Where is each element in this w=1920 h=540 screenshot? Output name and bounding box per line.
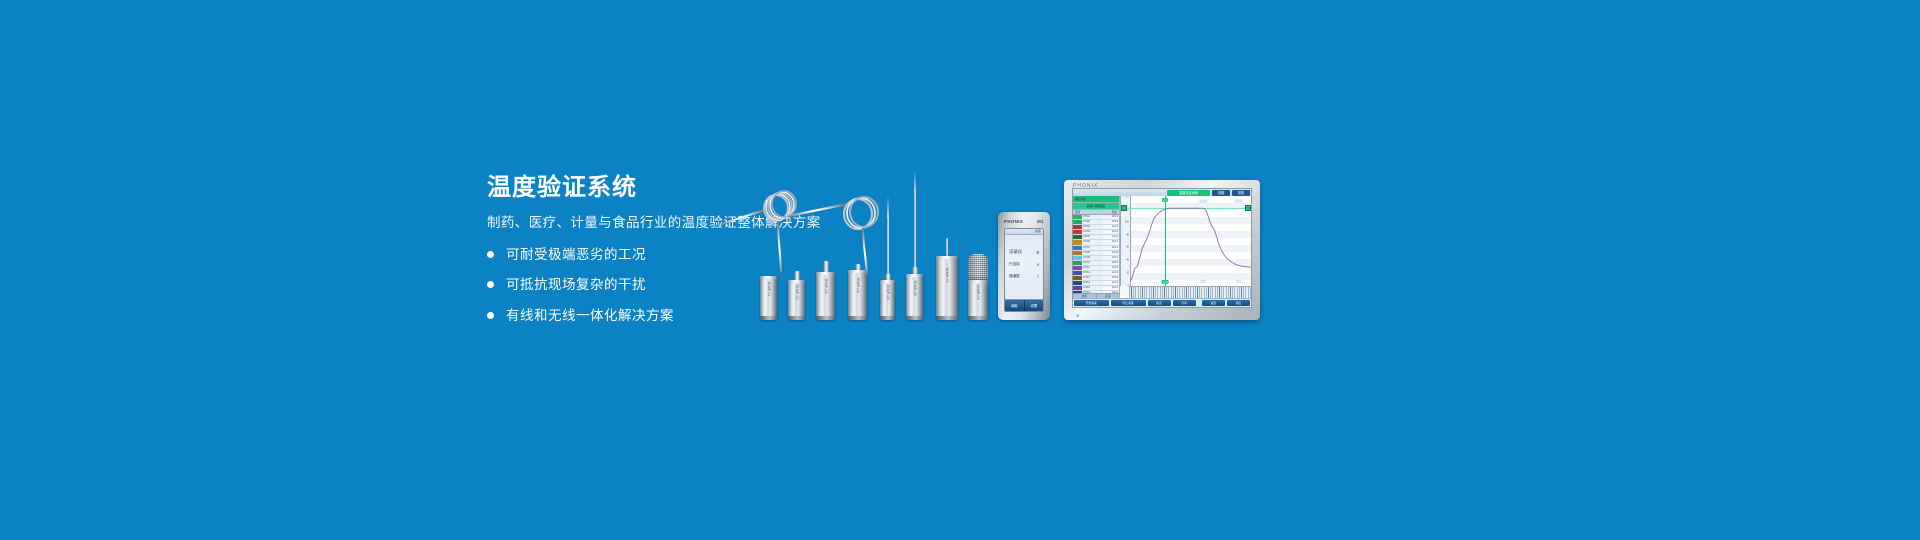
feature-label: 可耐受极端恶劣的工况 (506, 248, 646, 262)
hero-banner: 温度验证系统 制药、医疗、计量与食品行业的温度验证整体解决方案 可耐受极端恶劣的… (0, 0, 1920, 540)
bullet-dot-icon (487, 251, 494, 258)
logger-tall: TEMP-07 (936, 256, 958, 320)
handheld-stat-label: 记录仪 (1009, 249, 1022, 255)
software-window[interactable]: 温度验证系统 视图 帮助 通道列表 曲线与参数设置 通道 温度 (1072, 188, 1252, 308)
probe-neck (912, 267, 917, 274)
handheld-stat-value: 8 (1037, 250, 1039, 255)
probe-neck (885, 274, 890, 280)
channel-value: 121.7 (1103, 240, 1119, 244)
pin-probe (946, 238, 948, 256)
handheld-brand-row: PHONIX M1 (1004, 219, 1044, 224)
logger-stub-b: TEMP-03 (816, 272, 835, 320)
logger-label: TEMP-03 (824, 279, 828, 295)
feature-label: 有线和无线一体化解决方案 (506, 309, 674, 323)
product-cluster: TEMP-01 TEMP-02 TEMP-03 TEMP-04 TEMP-05 (740, 120, 1260, 320)
sintered-cap-icon (968, 254, 988, 280)
chart-temperature-curve (1130, 196, 1251, 286)
channel-color-swatch (1073, 225, 1082, 229)
y-axis-tick: 20 (1126, 272, 1129, 275)
channel-color-swatch (1073, 261, 1082, 265)
y-axis-tick: 40 (1126, 259, 1129, 262)
channel-name: CH 10 (1082, 261, 1103, 265)
handheld-model: M1 (1037, 219, 1044, 224)
exit-button[interactable]: 退出 (1227, 300, 1250, 306)
channel-color-swatch (1073, 246, 1082, 250)
report-button[interactable]: 报表 (1148, 300, 1171, 306)
start-acquisition-button[interactable]: 开始采集 (1074, 300, 1109, 306)
channel-name: CH 02 (1082, 220, 1103, 224)
probe-neck (855, 264, 860, 270)
software-bottom-toolbar: 开始采集 停止采集 报表 打印 设置 退出 (1073, 298, 1251, 307)
toolbar-spacer (1197, 299, 1201, 307)
channel-name: CH 03 (1082, 225, 1103, 229)
sidebar-title: 通道列表 (1075, 197, 1086, 201)
channel-value: 121.2 (1103, 286, 1119, 290)
channel-value: 121.3 (1103, 225, 1119, 229)
handheld-softkeys: 读取 设置 (1005, 299, 1043, 311)
software-main: 通道列表 曲线与参数设置 通道 温度 CH 01121.4CH 02121.5C… (1073, 196, 1251, 298)
logger-label: TEMP-07 (945, 267, 949, 283)
channel-value: 121.3 (1103, 271, 1119, 275)
channel-value: 121.5 (1103, 220, 1119, 224)
tab-temperature-validation[interactable]: 温度验证系统 (1167, 190, 1210, 196)
bullet-dot-icon (487, 281, 494, 288)
sidebar-subtitle: 曲线与参数设置 (1073, 203, 1119, 210)
coil-left (764, 191, 796, 221)
channel-value: 121.5 (1103, 276, 1119, 280)
chart-panel[interactable]: 020406080100120140 A点 起点 保温段 降温段 (1120, 196, 1251, 298)
channel-value: 121.2 (1103, 235, 1119, 239)
channel-name: CH 04 (1082, 230, 1103, 234)
logger-coiled-large: TEMP-04 (848, 270, 867, 320)
column-header-temp: 温度 (1112, 210, 1117, 214)
channel-name: CH 13 (1082, 276, 1103, 280)
handheld-stat-value: 7 (1037, 275, 1039, 279)
handheld-titlebar-label: 读取 (1035, 229, 1041, 234)
tab-view[interactable]: 视图 (1212, 190, 1230, 196)
handheld-stat-row: 已连接 8 (1009, 262, 1039, 267)
print-button[interactable]: 打印 (1173, 300, 1196, 306)
channel-color-swatch (1073, 215, 1082, 219)
handheld-stat-row: 通道数 7 (1009, 274, 1039, 279)
channel-row-list[interactable]: CH 01121.4CH 02121.5CH 03121.3CH 04121.6… (1073, 215, 1119, 293)
handheld-stat-row: 记录仪 8 (1009, 249, 1039, 255)
channel-value: 121.9 (1103, 266, 1119, 270)
channel-color-swatch (1073, 220, 1082, 224)
logger-label: TEMP-05 (886, 285, 890, 301)
channel-color-swatch (1073, 251, 1082, 255)
handheld-stat-value: 8 (1037, 263, 1039, 267)
channel-sidebar[interactable]: 通道列表 曲线与参数设置 通道 温度 CH 01121.4CH 02121.5C… (1073, 196, 1120, 298)
channel-name: CH 09 (1082, 256, 1103, 260)
needle-tip-icon (914, 171, 916, 193)
needle-probe (887, 218, 889, 274)
probe-neck (794, 271, 799, 280)
software-toolbar: 温度验证系统 视图 帮助 (1073, 189, 1251, 196)
y-axis-tick: 60 (1126, 246, 1129, 249)
power-led-icon (1076, 314, 1079, 317)
logger-needle-long: TEMP-06 (906, 274, 923, 320)
bullet-dot-icon (487, 312, 494, 319)
channel-color-swatch (1073, 256, 1082, 260)
logger-stub-a: TEMP-02 (788, 280, 805, 320)
monitor-display: PHONIX 温度验证系统 视图 帮助 通道列表 曲线与参数设置 (1064, 180, 1260, 320)
channel-name: CH 07 (1082, 246, 1103, 250)
channel-color-swatch (1073, 286, 1082, 290)
logger-label: TEMP-01 (767, 282, 771, 298)
tab-help[interactable]: 帮助 (1232, 190, 1250, 196)
y-axis-tick: 80 (1126, 233, 1129, 236)
channel-name: CH 08 (1082, 251, 1103, 255)
channel-name: CH 01 (1082, 215, 1103, 219)
logger-mesh-cap: TEMP-08 (968, 280, 988, 320)
logger-coiled-small: TEMP-01 (760, 276, 777, 320)
handheld-stat-label: 通道数 (1009, 274, 1020, 279)
logger-label: TEMP-06 (913, 280, 917, 296)
channel-value: 121.4 (1103, 281, 1119, 285)
sidebar-title-row: 通道列表 (1073, 196, 1119, 203)
handheld-body: 记录仪 8 已连接 8 通道数 7 (1005, 235, 1043, 299)
channel-color-swatch (1073, 235, 1082, 239)
y-axis-tick: 0 (1128, 285, 1129, 288)
column-header-channel: 通道 (1075, 210, 1080, 214)
channel-name: CH 15 (1082, 286, 1103, 290)
handheld-brand: PHONIX (1004, 219, 1023, 224)
handheld-reader[interactable]: PHONIX M1 读取 记录仪 8 已连接 8 通 (998, 212, 1050, 320)
channel-value: 121.0 (1103, 256, 1119, 260)
channel-color-swatch (1073, 266, 1082, 270)
channel-value: 120.9 (1103, 261, 1119, 265)
handheld-key-setup[interactable]: 设置 (1025, 300, 1044, 311)
y-axis-tick: 100 (1125, 220, 1129, 223)
channel-name: CH 12 (1082, 271, 1103, 275)
chart-plot-area[interactable]: 020406080100120140 A点 起点 保温段 降温段 (1120, 196, 1251, 286)
channel-color-swatch (1073, 271, 1082, 275)
y-axis-tick: 140 (1125, 196, 1129, 198)
monitor-brand: PHONIX (1073, 183, 1098, 189)
channel-color-swatch (1073, 230, 1082, 234)
stop-acquisition-button[interactable]: 停止采集 (1111, 300, 1146, 306)
needle-probe (914, 193, 916, 267)
channel-color-swatch (1073, 276, 1082, 280)
logger-label: TEMP-08 (976, 285, 980, 301)
logger-label: TEMP-04 (856, 277, 860, 293)
channel-value: 121.6 (1103, 230, 1119, 234)
feature-label: 可抵抗现场复杂的干扰 (506, 278, 646, 292)
chart-x-axis (1129, 286, 1251, 298)
channel-name: CH 05 (1082, 235, 1103, 239)
logger-label: TEMP-02 (795, 285, 799, 301)
channel-name: CH 06 (1082, 240, 1103, 244)
channel-value: 121.4 (1103, 215, 1119, 219)
coil-probe-graphics (720, 180, 960, 290)
channel-value: 121.1 (1103, 246, 1119, 250)
channel-color-swatch (1073, 240, 1082, 244)
logger-needle-short: TEMP-05 (880, 280, 895, 320)
coil-right (844, 197, 878, 229)
handheld-titlebar: 读取 (1005, 229, 1043, 235)
marker-handle-left[interactable] (1121, 205, 1127, 211)
channel-value: 121.8 (1103, 251, 1119, 255)
probe-neck (823, 261, 828, 272)
channel-name: CH 11 (1082, 266, 1103, 270)
needle-tip-icon (887, 196, 889, 218)
handheld-screen[interactable]: 读取 记录仪 8 已连接 8 通道数 7 (1004, 228, 1044, 312)
settings-button[interactable]: 设置 (1202, 300, 1225, 306)
channel-color-swatch (1073, 281, 1082, 285)
handheld-key-read[interactable]: 读取 (1005, 300, 1025, 311)
channel-name: CH 14 (1082, 281, 1103, 285)
handheld-stat-label: 已连接 (1009, 262, 1020, 267)
